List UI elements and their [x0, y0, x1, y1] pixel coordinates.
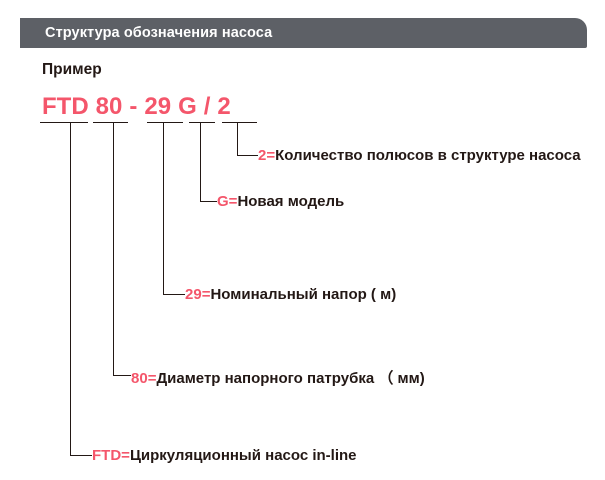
- annotation-desc-2: Количество полюсов в структуре насоса: [275, 147, 580, 164]
- annotation-key-ftd: FTD: [92, 447, 121, 464]
- code-separator-dash: -: [129, 93, 137, 121]
- page-title: Структура обозначения насоса: [45, 25, 272, 41]
- underline-ftd: [40, 122, 88, 123]
- annotation-29: 29=Номинальный напор ( м): [185, 286, 396, 303]
- code-segment-g: G: [178, 93, 197, 121]
- annotation-g: G=Новая модель: [217, 193, 344, 210]
- annotation-key-29: 29: [185, 286, 202, 303]
- underline-29: [147, 122, 183, 123]
- leader-vertical-g: [200, 122, 201, 202]
- annotation-desc-ftd: Циркуляционный насос in-line: [130, 447, 357, 464]
- leader-vertical-2: [237, 122, 238, 156]
- leader-elbow-g: [200, 201, 217, 202]
- code-segment-ftd: FTD: [42, 93, 89, 121]
- annotation-equals-ftd: =: [121, 447, 130, 464]
- annotation-ftd: FTD=Циркуляционный насос in-line: [92, 447, 357, 464]
- code-separator-slash: /: [204, 93, 211, 121]
- leader-elbow-ftd: [70, 455, 92, 456]
- annotation-2: 2=Количество полюсов в структуре насоса: [258, 147, 581, 164]
- code-segment-2: 2: [217, 93, 230, 121]
- annotation-80: 80=Диаметр напорного патрубка （ мм): [131, 367, 425, 388]
- leader-elbow-80: [113, 375, 131, 376]
- leader-vertical-ftd: [70, 122, 71, 456]
- pump-code-line: FTD80-29G/2: [42, 93, 231, 121]
- annotation-desc-80: Диаметр напорного патрубка （ мм): [156, 370, 424, 387]
- code-segment-29: 29: [144, 93, 171, 121]
- leader-elbow-29: [163, 294, 185, 295]
- annotation-desc-29: Номинальный напор ( м): [210, 286, 396, 303]
- leader-elbow-2: [237, 155, 258, 156]
- designation-structure-page: Структура обозначения насоса Пример FTD8…: [0, 0, 605, 480]
- leader-vertical-29: [163, 122, 164, 295]
- annotation-key-g: G: [217, 193, 229, 210]
- underline-2: [222, 122, 257, 123]
- underline-g: [189, 122, 215, 123]
- annotation-desc-g: Новая модель: [237, 193, 344, 210]
- section-header-bar: Структура обозначения насоса: [20, 18, 587, 48]
- code-segment-80: 80: [96, 93, 123, 121]
- underline-80: [93, 122, 128, 123]
- annotation-equals-2: =: [266, 147, 275, 164]
- example-label: Пример: [42, 61, 102, 79]
- annotation-key-80: 80: [131, 370, 148, 387]
- leader-vertical-80: [113, 122, 114, 376]
